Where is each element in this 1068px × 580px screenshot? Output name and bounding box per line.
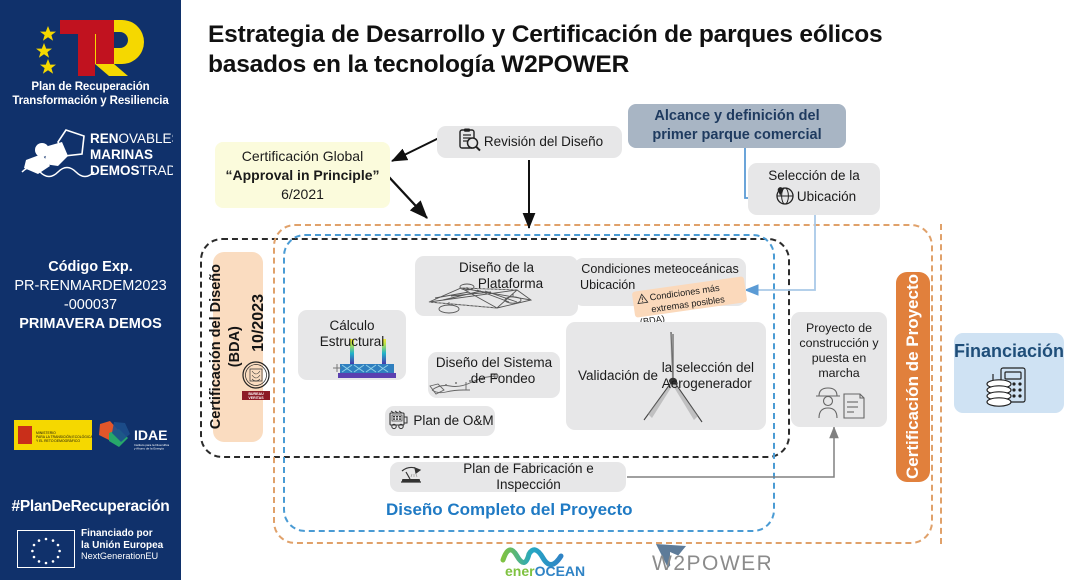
- cert-diseno-text: Certificación del Diseño: [208, 264, 224, 429]
- svg-text:MARINAS: MARINAS: [90, 147, 153, 162]
- fondeo-line2: de Fondeo: [471, 371, 536, 387]
- codigo-expediente: Código Exp. PR-RENMARDEM2023 -000037 PRI…: [0, 258, 181, 334]
- eu-flag-icon: [17, 530, 75, 568]
- warning-triangle-icon: [636, 293, 649, 308]
- cert-global-line3: 6/2021: [281, 185, 324, 204]
- cert-global-line1: Certificación Global: [242, 147, 363, 166]
- node-seleccion-ubicacion[interactable]: Selección de la Ubicación: [748, 163, 880, 215]
- svg-text:VERITAS: VERITAS: [248, 396, 264, 400]
- node-revision-diseno[interactable]: Revisión del Diseño: [437, 126, 622, 158]
- alcance-line1: Alcance y definición del: [652, 107, 821, 126]
- eu-funding-text: Financiado por la Unión Europea NextGene…: [81, 528, 171, 563]
- codigo-label: Código Exp.: [0, 258, 181, 277]
- plataforma-line2: Plataforma: [478, 276, 543, 292]
- svg-text:Y EL RETO DEMOGRÁFICO: Y EL RETO DEMOGRÁFICO: [36, 439, 80, 443]
- validacion-line2: Aerogenerador: [662, 376, 752, 391]
- node-plan-fabricacion[interactable]: Plan de Fabricación e Inspección: [390, 462, 626, 492]
- node-calculo-estructural[interactable]: Cálculo Estructural: [298, 310, 406, 380]
- globe-pin-icon: [772, 184, 796, 210]
- divider-financiacion-dashed: [940, 224, 942, 544]
- cert-global-line2: “Approval in Principle”: [225, 166, 379, 185]
- robot-welder-icon: [398, 463, 426, 491]
- worker-helmet-icon: [810, 382, 870, 426]
- node-diseno-plataforma[interactable]: Diseño de la Plataforma: [415, 256, 578, 316]
- eu-line3: NextGenerationEU: [81, 551, 171, 563]
- svg-text:RENOVABLES: RENOVABLES: [90, 131, 173, 146]
- sidebar: Plan de Recuperación Transformación y Re…: [0, 0, 181, 580]
- renovables-marinas-logo: RENOVABLES MARINAS DEMOSTRADORES: [8, 126, 173, 188]
- prtr-logo-text: Plan de Recuperación Transformación y Re…: [0, 80, 181, 108]
- proyecto-line2: construcción y: [799, 336, 878, 351]
- node-proyecto-construccion[interactable]: Proyecto de construcción y puesta en mar…: [791, 312, 887, 427]
- seleccion-line1: Selección de la: [768, 168, 860, 184]
- svg-text:DEMOSTRADORES: DEMOSTRADORES: [90, 163, 173, 178]
- node-validacion-aerogenerador[interactable]: Validación de la selección del Aerogener…: [566, 322, 766, 430]
- proyecto-line4: marcha: [818, 366, 859, 381]
- prtr-logo-icon: [0, 14, 181, 76]
- svg-text:enerOCEAN: enerOCEAN: [505, 563, 585, 579]
- clipboard-magnifier-icon: [456, 127, 482, 157]
- alcance-line2: primer parque comercial: [652, 126, 821, 145]
- proyecto-line3: puesta en: [812, 351, 866, 366]
- codigo-value-line1: PR-RENMARDEM2023: [0, 277, 181, 296]
- eu-line2: la Unión Europea: [81, 540, 171, 552]
- calculator-coins-icon: [981, 364, 1037, 417]
- caption-diseno-completo: Diseño Completo del Proyecto: [386, 500, 633, 520]
- bar-certificacion-proyecto[interactable]: Certificación de Proyecto: [896, 272, 930, 482]
- node-diseno-fondeo[interactable]: Diseño del Sistema de Fondeo: [428, 352, 560, 398]
- svg-text:y Ahorro de la Energía: y Ahorro de la Energía: [134, 447, 164, 451]
- page-title: Estrategia de Desarrollo y Certificación…: [208, 20, 998, 80]
- financiacion-label: Financiación: [954, 341, 1064, 362]
- codigo-value-line3: PRIMAVERA DEMOS: [0, 315, 181, 334]
- node-revision-diseno-label: Revisión del Diseño: [484, 134, 603, 150]
- svg-text:IDAE: IDAE: [134, 427, 167, 443]
- fondeo-line1: Diseño del Sistema: [436, 355, 552, 371]
- slide-root: Plan de Recuperación Transformación y Re…: [0, 0, 1068, 580]
- calculo-line1: Cálculo: [329, 318, 374, 334]
- meteo-line1: Condiciones meteoceánicas: [581, 261, 739, 277]
- title-line-1: Estrategia de Desarrollo y Certificación…: [208, 20, 998, 50]
- title-line-2: basados en la tecnología W2POWER: [208, 50, 998, 80]
- calculo-line2: Estructural: [320, 334, 385, 350]
- plan-fabricacion-label: Plan de Fabricación e Inspección: [431, 461, 626, 493]
- validacion-left-label: Validación de: [578, 368, 658, 384]
- node-financiacion[interactable]: Financiación: [954, 333, 1064, 413]
- prtr-text-line2: Transformación y Resiliencia: [0, 94, 181, 108]
- plataforma-line1: Diseño de la: [459, 260, 534, 276]
- cert-proyecto-label: Certificación de Proyecto: [903, 274, 923, 479]
- prtr-text-line1: Plan de Recuperación: [0, 80, 181, 94]
- hashtag-plan-recuperacion: #PlanDeRecuperación: [0, 498, 181, 516]
- enerocean-logo: enerOCEAN: [495, 538, 605, 580]
- codigo-value-line2: -000037: [0, 296, 181, 315]
- validacion-line1: la selección del: [662, 360, 754, 375]
- eu-line1: Financiado por: [81, 528, 171, 540]
- svg-text:W2POWER: W2POWER: [652, 552, 770, 575]
- node-alcance-definicion[interactable]: Alcance y definición del primer parque c…: [628, 104, 846, 148]
- seleccion-line2: Ubicación: [797, 189, 856, 205]
- cert-diseno-date: 10/2023: [250, 294, 267, 352]
- eu-funding-block: Financiado por la Unión Europea NextGene…: [17, 528, 167, 572]
- proyecto-line1: Proyecto de: [806, 321, 872, 336]
- w2power-logo: W2POWER: [650, 538, 770, 580]
- plan-oym-label: Plan de O&M: [413, 413, 493, 429]
- service-vessel-icon: [386, 407, 410, 435]
- node-plan-oym[interactable]: Plan de O&M: [385, 406, 495, 436]
- meteo-line2: Ubicación: [580, 277, 635, 293]
- node-certificacion-global[interactable]: Certificación Global “Approval in Princi…: [215, 142, 390, 208]
- bar-certificacion-diseno[interactable]: Certificación del Diseño (BDA) 10/2023 B…: [213, 252, 263, 442]
- ministerio-idae-logos: MINISTERIO PARA LA TRANSICIÓN ECOLÓGICA …: [14, 418, 169, 452]
- bureau-veritas-logo: BUREAU VERITAS: [239, 360, 273, 400]
